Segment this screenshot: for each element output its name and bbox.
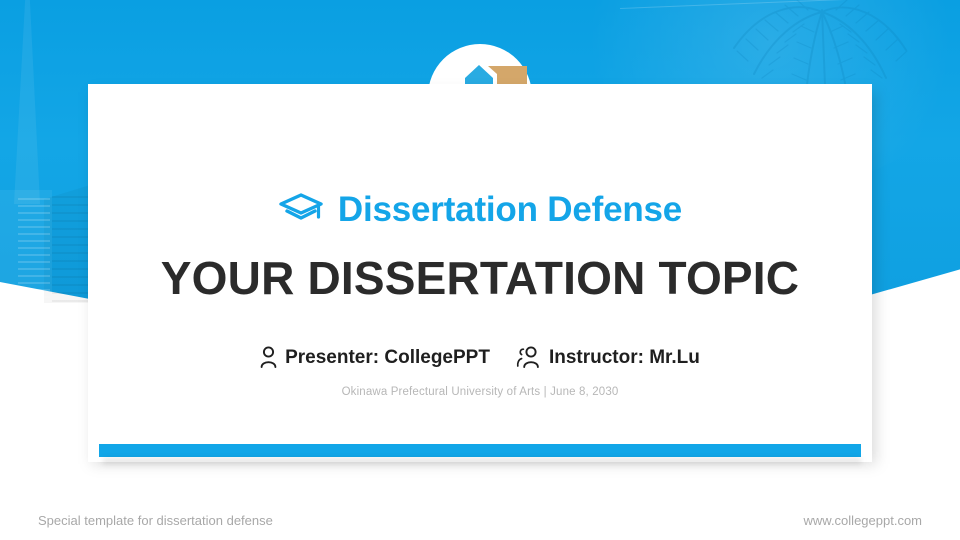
footer-left-label: Special template for dissertation defens… — [38, 513, 273, 528]
presentation-slide: Dissertation Defense YOUR DISSERTATION T… — [0, 0, 960, 540]
instructor-label: Instructor: Mr.Lu — [549, 348, 700, 367]
graduation-cap-icon — [278, 190, 324, 228]
footer-right-label: www.collegeppt.com — [804, 513, 923, 528]
instructor-item: Instructor: Mr.Lu — [516, 346, 700, 368]
presenter-label: Presenter: CollegePPT — [285, 348, 490, 367]
people-row: Presenter: CollegePPT Instructor: Mr.Lu — [0, 346, 960, 368]
person-icon — [260, 346, 277, 368]
card-accent-bar — [99, 444, 861, 457]
people-icon — [516, 346, 541, 368]
institution-date-label: Okinawa Prefectural University of Arts |… — [0, 386, 960, 398]
kicker-row: Dissertation Defense — [0, 190, 960, 228]
presenter-item: Presenter: CollegePPT — [260, 346, 490, 368]
card-accent-shadow — [103, 458, 861, 464]
kicker-label: Dissertation Defense — [338, 192, 682, 227]
page-title: YOUR DISSERTATION TOPIC — [0, 254, 960, 302]
